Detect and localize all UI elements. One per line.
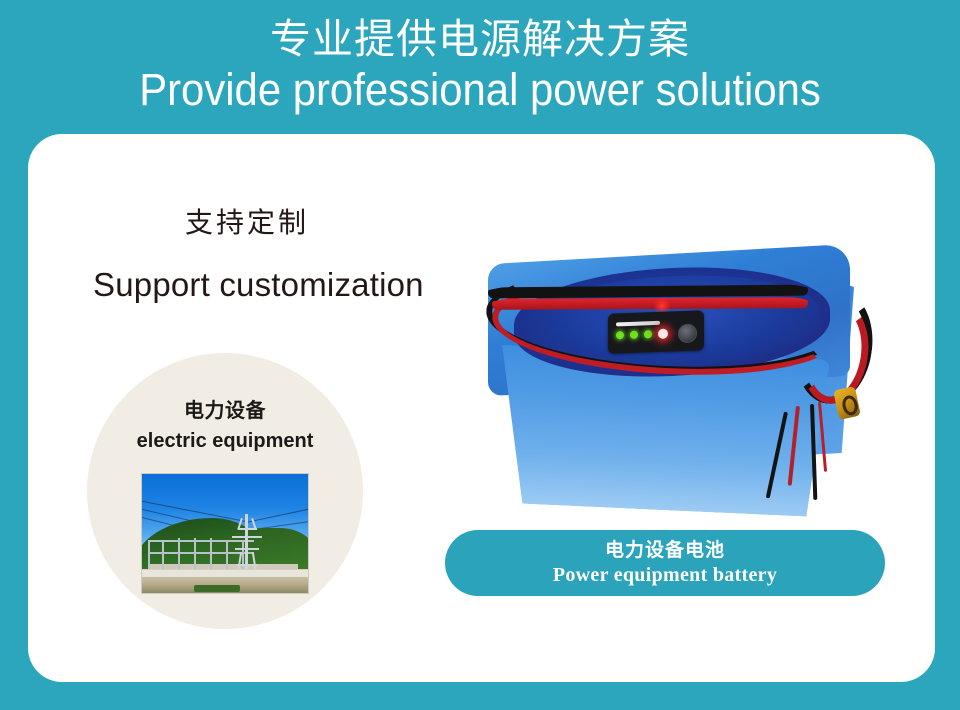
product-banner-page: 专业提供电源解决方案 Provide professional power so… [0,0,960,710]
equipment-badge-label-cn: 电力设备 [87,398,363,424]
led-green [616,331,624,339]
product-caption-en: Power equipment battery [553,563,777,588]
support-heading-en: Support customization [93,265,424,305]
cable-red [492,297,808,310]
product-caption-cn: 电力设备电池 [605,539,725,563]
battery-product-image [466,246,896,536]
equipment-badge-label-en: electric equipment [87,428,363,454]
support-heading-cn: 支持定制 [185,206,309,240]
battery-led-panel [608,310,704,353]
led-green [630,331,638,339]
led-red [658,329,668,339]
xt-connector [833,386,861,420]
photo-ground-green [194,585,240,592]
photo-ground-strip [142,570,308,577]
substation-photo [142,474,308,593]
led-level-bar [616,321,660,327]
led-green [644,330,652,338]
header-title-cn: 专业提供电源解决方案 [0,14,960,64]
power-button-icon[interactable] [678,324,697,344]
header: 专业提供电源解决方案 Provide professional power so… [0,14,960,116]
header-title-en: Provide professional power solutions [34,64,927,116]
product-caption-banner: 电力设备电池 Power equipment battery [445,530,885,596]
